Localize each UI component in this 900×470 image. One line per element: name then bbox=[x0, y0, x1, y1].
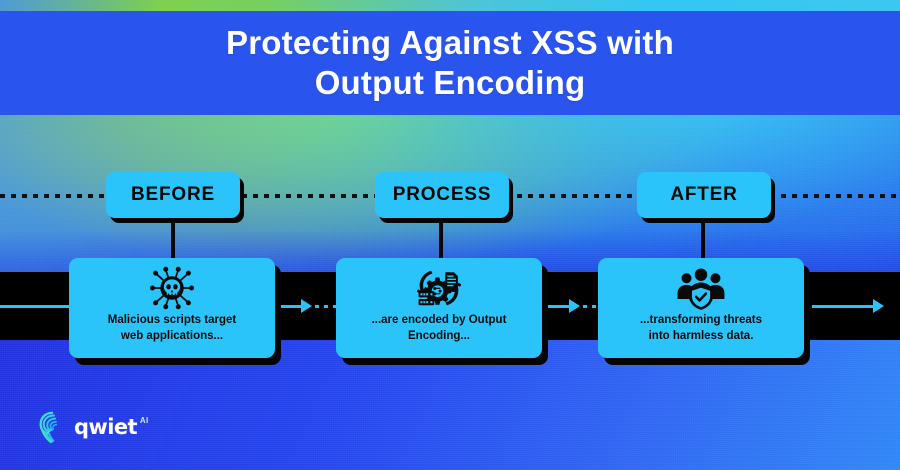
step-card-before[interactable]: Malicious scripts target web application… bbox=[69, 258, 275, 358]
page-title-line2: Output Encoding bbox=[226, 63, 674, 103]
flow-arrow-4 bbox=[812, 296, 887, 316]
brand-logo-superscript: AI bbox=[140, 416, 149, 425]
connector-stem-process bbox=[439, 216, 443, 264]
step-chip-after-label: AFTER bbox=[670, 184, 737, 206]
step-chip-process-label: PROCESS bbox=[393, 184, 492, 206]
step-card-after[interactable]: ...transforming threats into harmless da… bbox=[598, 258, 804, 358]
step-card-before-text-line2: web applications... bbox=[121, 330, 223, 342]
flow-arrow-2-line bbox=[280, 305, 302, 308]
header-band: Protecting Against XSS with Output Encod… bbox=[0, 11, 900, 115]
flow-arrow-3-head bbox=[569, 299, 580, 313]
infographic-canvas: Protecting Against XSS with Output Encod… bbox=[0, 0, 900, 470]
qwiet-spiral-mark-icon bbox=[38, 410, 68, 444]
connector-stem-before bbox=[171, 216, 175, 264]
flow-arrow-4-line bbox=[812, 305, 874, 308]
flow-arrow-2-head bbox=[301, 299, 312, 313]
step-card-process-text: ...are encoded by Output Encoding... bbox=[362, 313, 517, 344]
flow-arrow-4-head bbox=[873, 299, 884, 313]
top-accent-strip bbox=[0, 0, 900, 11]
connector-stem-after bbox=[701, 216, 705, 264]
step-card-before-text-line1: Malicious scripts target bbox=[108, 314, 236, 326]
gear-encoding-icon bbox=[413, 266, 465, 310]
page-title-line1: Protecting Against XSS with bbox=[226, 24, 674, 61]
flow-arrow-3-line bbox=[548, 305, 570, 308]
step-card-before-text: Malicious scripts target web application… bbox=[98, 313, 246, 344]
page-title: Protecting Against XSS with Output Encod… bbox=[186, 23, 714, 104]
step-chip-after[interactable]: AFTER bbox=[637, 172, 771, 218]
step-card-process[interactable]: ...are encoded by Output Encoding... bbox=[336, 258, 542, 358]
brand-logo-wordmark: qwiet bbox=[74, 415, 137, 439]
step-chip-before[interactable]: BEFORE bbox=[106, 172, 240, 218]
shield-users-icon bbox=[675, 266, 727, 310]
skull-network-icon bbox=[146, 266, 198, 310]
step-card-after-text: ...transforming threats into harmless da… bbox=[630, 313, 772, 344]
step-card-after-text-line1: ...transforming threats bbox=[640, 314, 762, 326]
step-chip-process[interactable]: PROCESS bbox=[375, 172, 509, 218]
step-chip-before-label: BEFORE bbox=[131, 184, 215, 206]
step-card-process-text-line2: Encoding... bbox=[408, 330, 470, 342]
brand-logo[interactable]: qwiet AI bbox=[38, 410, 149, 444]
step-card-after-text-line2: into harmless data. bbox=[649, 330, 754, 342]
step-card-process-text-line1: ...are encoded by Output bbox=[372, 314, 507, 326]
